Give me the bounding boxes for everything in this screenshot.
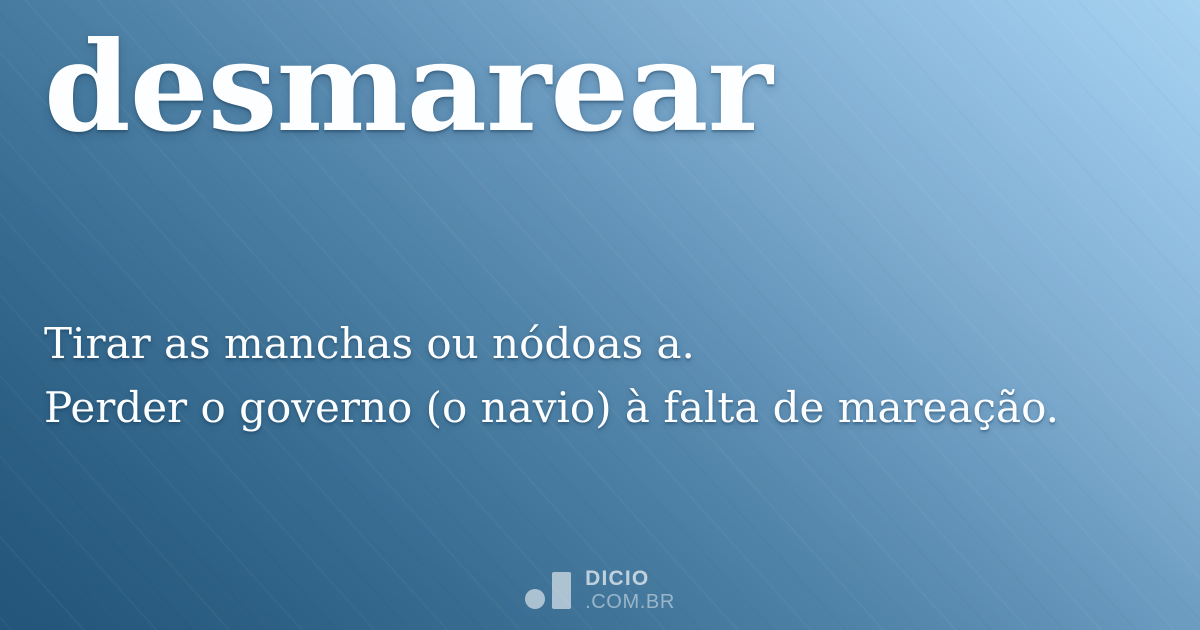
page-title: desmarear bbox=[44, 26, 772, 150]
dicio-logo-icon bbox=[525, 571, 571, 609]
definition-card: desmarear Tirar as manchas ou nódoas a. … bbox=[0, 0, 1200, 630]
circle-icon bbox=[525, 589, 545, 609]
bar-icon bbox=[552, 572, 571, 609]
brand-logo[interactable]: DICIO .COM.BR bbox=[0, 568, 1200, 612]
definition-item: Tirar as manchas ou nódoas a. bbox=[44, 312, 1164, 376]
brand-tld: .COM.BR bbox=[585, 592, 675, 612]
brand-wordmark: DICIO .COM.BR bbox=[585, 568, 675, 612]
definition-item: Perder o governo (o navio) à falta de ma… bbox=[44, 376, 1164, 440]
definition-list: Tirar as manchas ou nódoas a. Perder o g… bbox=[44, 312, 1164, 440]
brand-name: DICIO bbox=[585, 568, 675, 589]
card-content: desmarear Tirar as manchas ou nódoas a. … bbox=[0, 0, 1200, 630]
